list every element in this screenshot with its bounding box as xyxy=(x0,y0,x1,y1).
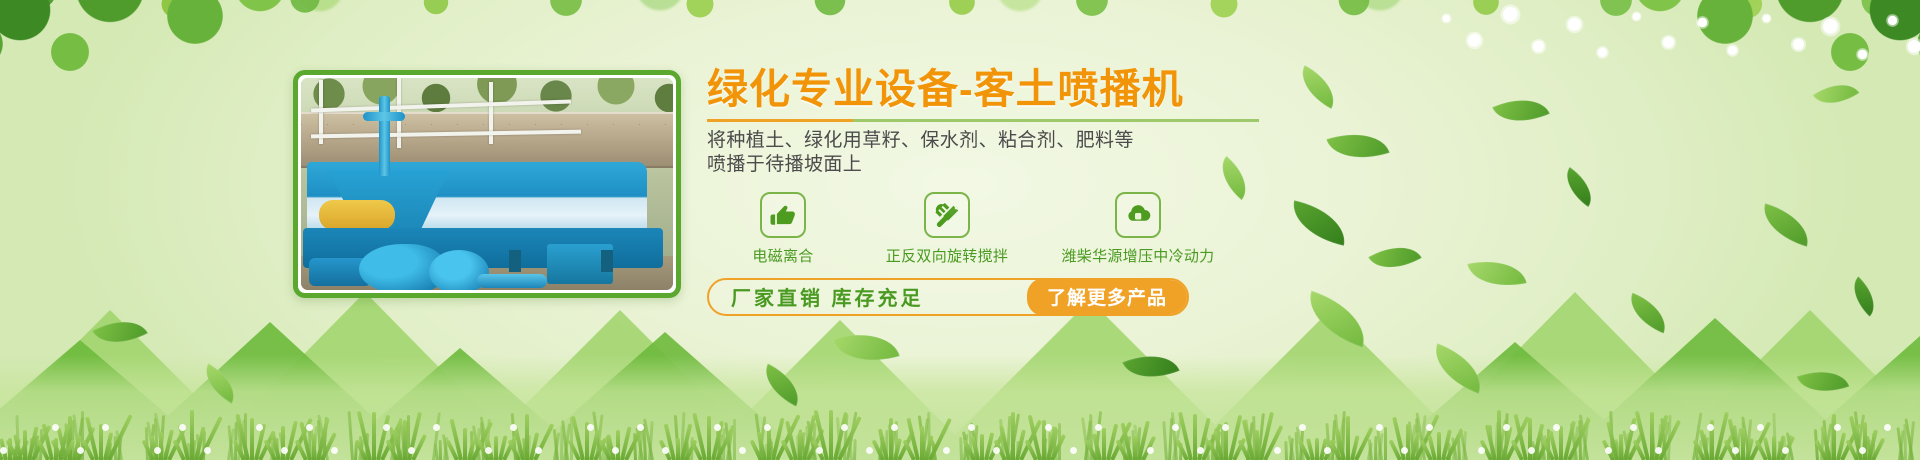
grass-flower xyxy=(0,447,7,454)
grass-flower xyxy=(154,447,161,454)
white-blossoms xyxy=(1400,0,1920,90)
grass-flower xyxy=(281,447,288,454)
grass-flower xyxy=(1655,447,1662,454)
grass-flower xyxy=(408,447,415,454)
grass-flower xyxy=(1045,424,1052,431)
cta-bar: 厂家直销 库存充足 了解更多产品 xyxy=(707,278,1189,316)
blossom-dot xyxy=(1503,7,1518,22)
grass-flower xyxy=(1172,424,1179,431)
grass-flower xyxy=(1274,447,1281,454)
grass-flower xyxy=(764,424,771,431)
photo-machine-leg xyxy=(509,250,521,272)
grass-flower xyxy=(1426,424,1433,431)
grass-flower xyxy=(662,447,669,454)
photo-machine-pipe xyxy=(379,96,390,176)
grass-flower xyxy=(1707,424,1714,431)
blossom-dot xyxy=(1728,46,1738,56)
grass-flower xyxy=(1757,424,1764,431)
grass-flower xyxy=(256,424,263,431)
blossom-dot xyxy=(1468,34,1481,47)
blossom-dot xyxy=(1633,13,1641,21)
grass-flower xyxy=(1095,424,1102,431)
floating-leaf xyxy=(1757,203,1815,246)
blossom-dot xyxy=(1663,37,1675,49)
feature-item-bidirectional-mixing[interactable]: 正反双向旋转搅拌 xyxy=(859,192,1035,266)
feature-label: 正反双向旋转搅拌 xyxy=(859,245,1035,266)
thumbs-up-icon xyxy=(760,192,806,238)
promo-banner: 绿化专业设备-客土喷播机 将种植土、绿化用草籽、保水剂、粘合剂、肥料等 喷播于待… xyxy=(0,0,1920,460)
grass-flower xyxy=(866,447,873,454)
grass-flower xyxy=(1222,424,1229,431)
photo-machine-pipe xyxy=(363,112,405,121)
grass-flower xyxy=(1630,424,1637,431)
feature-list: 电磁离合 正反双向旋转搅拌 xyxy=(707,192,1407,266)
grass-flower xyxy=(1147,447,1154,454)
grass-blade xyxy=(1285,441,1289,460)
grass-flower xyxy=(485,447,492,454)
grass-flower xyxy=(383,424,390,431)
grass-flower xyxy=(52,424,59,431)
photo-machine-yellow-tank xyxy=(319,200,395,230)
blossom-dot xyxy=(1823,19,1838,34)
grass-flower xyxy=(891,424,898,431)
grass-flower xyxy=(587,424,594,431)
grass-flower xyxy=(1070,447,1077,454)
photo-machine-outlet xyxy=(477,274,547,288)
grass-flower xyxy=(179,424,186,431)
grass-flower xyxy=(1553,424,1560,431)
grass-blade xyxy=(1162,421,1168,460)
grass-flower xyxy=(535,447,542,454)
grass-blade xyxy=(853,439,857,460)
wrench-screwdriver-icon xyxy=(924,192,970,238)
grass-flower xyxy=(77,447,84,454)
blossom-dot xyxy=(1698,18,1708,28)
grass-flower xyxy=(739,447,746,454)
feature-label: 潍柴华源增压中冷动力 xyxy=(1035,245,1241,266)
product-photo xyxy=(301,78,673,290)
blossom-dot xyxy=(1793,39,1805,51)
foliage-cluster-left xyxy=(0,0,290,110)
foliage-cluster-right xyxy=(1630,0,1920,110)
grass-flower xyxy=(331,447,338,454)
grass-flower xyxy=(1401,447,1408,454)
grass-flower xyxy=(816,447,823,454)
engine-power-icon xyxy=(1115,192,1161,238)
blossom-dot xyxy=(1908,40,1920,53)
grass-flower xyxy=(306,424,313,431)
photo-machine-leg xyxy=(601,250,613,272)
photo-concrete-wall xyxy=(301,112,673,168)
feature-item-electromagnetic-clutch[interactable]: 电磁离合 xyxy=(707,192,859,266)
grass-flower xyxy=(612,447,619,454)
grass-blade xyxy=(348,411,354,460)
grass-flower xyxy=(968,424,975,431)
page-title: 绿化专业设备-客土喷播机 xyxy=(707,66,1407,113)
blossom-dot xyxy=(1888,16,1898,26)
grass-flower xyxy=(1834,424,1841,431)
grass-flower xyxy=(1503,424,1510,431)
subtitle-block: 将种植土、绿化用草籽、保水剂、粘合剂、肥料等 喷播于待播坡面上 xyxy=(707,129,1407,178)
grass-blade xyxy=(733,419,736,460)
grass-flower xyxy=(1528,447,1535,454)
subtitle-line-1: 将种植土、绿化用草籽、保水剂、粘合剂、肥料等 xyxy=(707,129,1407,153)
blossom-dot xyxy=(1598,48,1608,58)
banner-content: 绿化专业设备-客土喷播机 将种植土、绿化用草籽、保水剂、粘合剂、肥料等 喷播于待… xyxy=(707,66,1407,316)
grass-flower xyxy=(993,447,1000,454)
floating-leaf xyxy=(1557,167,1601,207)
grass-flower xyxy=(1884,424,1891,431)
blossom-dot xyxy=(1533,41,1545,53)
grass-flower xyxy=(1478,447,1485,454)
product-photo-frame[interactable] xyxy=(293,70,681,298)
blossom-dot xyxy=(1443,15,1451,23)
learn-more-button[interactable]: 了解更多产品 xyxy=(1027,278,1187,316)
grass-flower xyxy=(841,424,848,431)
grass-flower xyxy=(943,447,950,454)
feature-item-weichai-power[interactable]: 潍柴华源增压中冷动力 xyxy=(1035,192,1241,266)
grass-flower xyxy=(1605,447,1612,454)
grass-flower xyxy=(433,424,440,431)
cta-slogan: 厂家直销 库存充足 xyxy=(731,282,924,311)
blossom-dot xyxy=(1763,15,1771,23)
floating-leaf xyxy=(1813,73,1860,115)
subtitle-line-2: 喷播于待播坡面上 xyxy=(707,153,1407,177)
grass-blade xyxy=(1384,427,1387,460)
grass-flower xyxy=(1376,424,1383,431)
grass-blades xyxy=(0,370,1920,460)
grass-flower xyxy=(1324,447,1331,454)
grass-flower xyxy=(1197,447,1204,454)
blossom-dot xyxy=(1568,18,1581,31)
grass-flower xyxy=(1732,447,1739,454)
grass-flower xyxy=(510,424,517,431)
blossom-dot xyxy=(1858,50,1868,60)
grass-flower xyxy=(637,424,644,431)
grass-flower xyxy=(102,424,109,431)
grass-flower xyxy=(714,424,721,431)
grass-flower xyxy=(1299,424,1306,431)
title-divider xyxy=(707,119,1259,122)
grass-flower xyxy=(1859,447,1866,454)
floating-leaf xyxy=(1492,87,1549,134)
grass-flower xyxy=(204,447,211,454)
grass-flower xyxy=(1782,447,1789,454)
feature-label: 电磁离合 xyxy=(707,245,859,266)
grass-blade xyxy=(439,440,442,460)
